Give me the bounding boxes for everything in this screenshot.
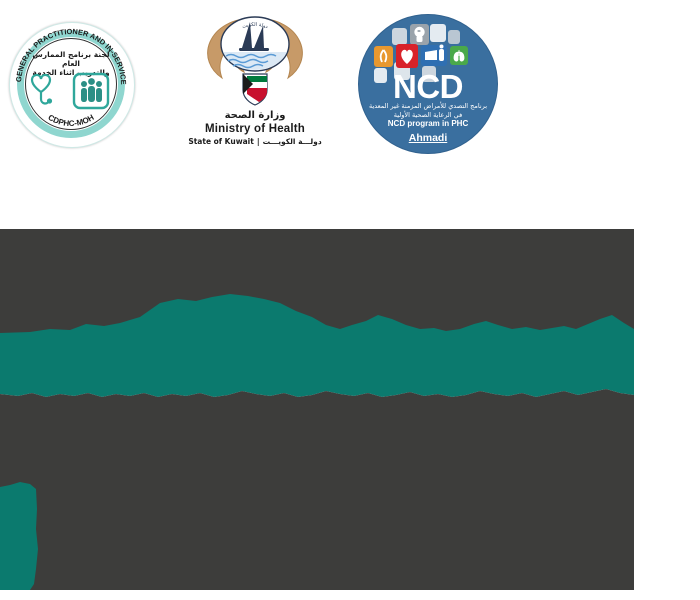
heart-icon bbox=[396, 44, 418, 68]
header-logo-strip: THE PROGRAM OF THE GENERAL PRACTITIONER … bbox=[0, 0, 700, 200]
awareness-ribbon-icon bbox=[374, 46, 393, 67]
logo-cdphc-seal: THE PROGRAM OF THE GENERAL PRACTITIONER … bbox=[6, 10, 136, 158]
moh-english-title: Ministry of Health bbox=[180, 122, 330, 136]
ncd-area-label: Ahmadi bbox=[364, 132, 492, 144]
brain-head-icon bbox=[410, 24, 429, 45]
redacted-content-region bbox=[0, 229, 634, 590]
ncd-arabic-text: برنامج التصدي للأمراض المزمنة غير المعدي… bbox=[364, 102, 492, 119]
moh-sub-arabic: دولـــة الكويـــت bbox=[263, 137, 322, 146]
seal-arc-bottom-group: CDPHC-MOH bbox=[9, 22, 133, 146]
svg-text:CDPHC-MOH: CDPHC-MOH bbox=[46, 113, 95, 128]
moh-subtitle: State of Kuwait|دولـــة الكويـــت bbox=[180, 136, 330, 147]
moh-sub-separator: | bbox=[254, 137, 263, 146]
ncd-acronym: NCD bbox=[358, 70, 498, 103]
redaction-block-upper-dark bbox=[0, 229, 634, 333]
kuwait-flag-shield-icon bbox=[243, 74, 267, 105]
seal-acronym-text: CDPHC-MOH bbox=[46, 113, 95, 128]
kuwait-falcon-emblem: دولة الكويت bbox=[180, 8, 330, 110]
redaction-blocks bbox=[0, 229, 634, 590]
redaction-block-teal-left bbox=[0, 482, 38, 590]
pale-tile-icon bbox=[392, 28, 407, 45]
glucose-meter-icon bbox=[421, 45, 447, 67]
moh-sub-english: State of Kuwait bbox=[188, 137, 254, 146]
ncd-english-line: NCD program in PHC bbox=[364, 119, 492, 129]
lungs-icon bbox=[450, 46, 468, 65]
ncd-arabic-line-2: في الرعاية الصحية الأولية bbox=[364, 111, 492, 120]
logo-ncd-program: NCD برنامج التصدي للأمراض المزمنة غير ال… bbox=[358, 14, 500, 156]
ncd-arabic-line-1: برنامج التصدي للأمراض المزمنة غير المعدي… bbox=[364, 102, 492, 111]
moh-arabic-title: وزارة الصحة bbox=[180, 110, 330, 122]
logo-ministry-of-health: دولة الكويت وزارة الصحة Ministry of Heal… bbox=[180, 8, 330, 158]
redaction-block-lower-dark bbox=[0, 389, 634, 590]
